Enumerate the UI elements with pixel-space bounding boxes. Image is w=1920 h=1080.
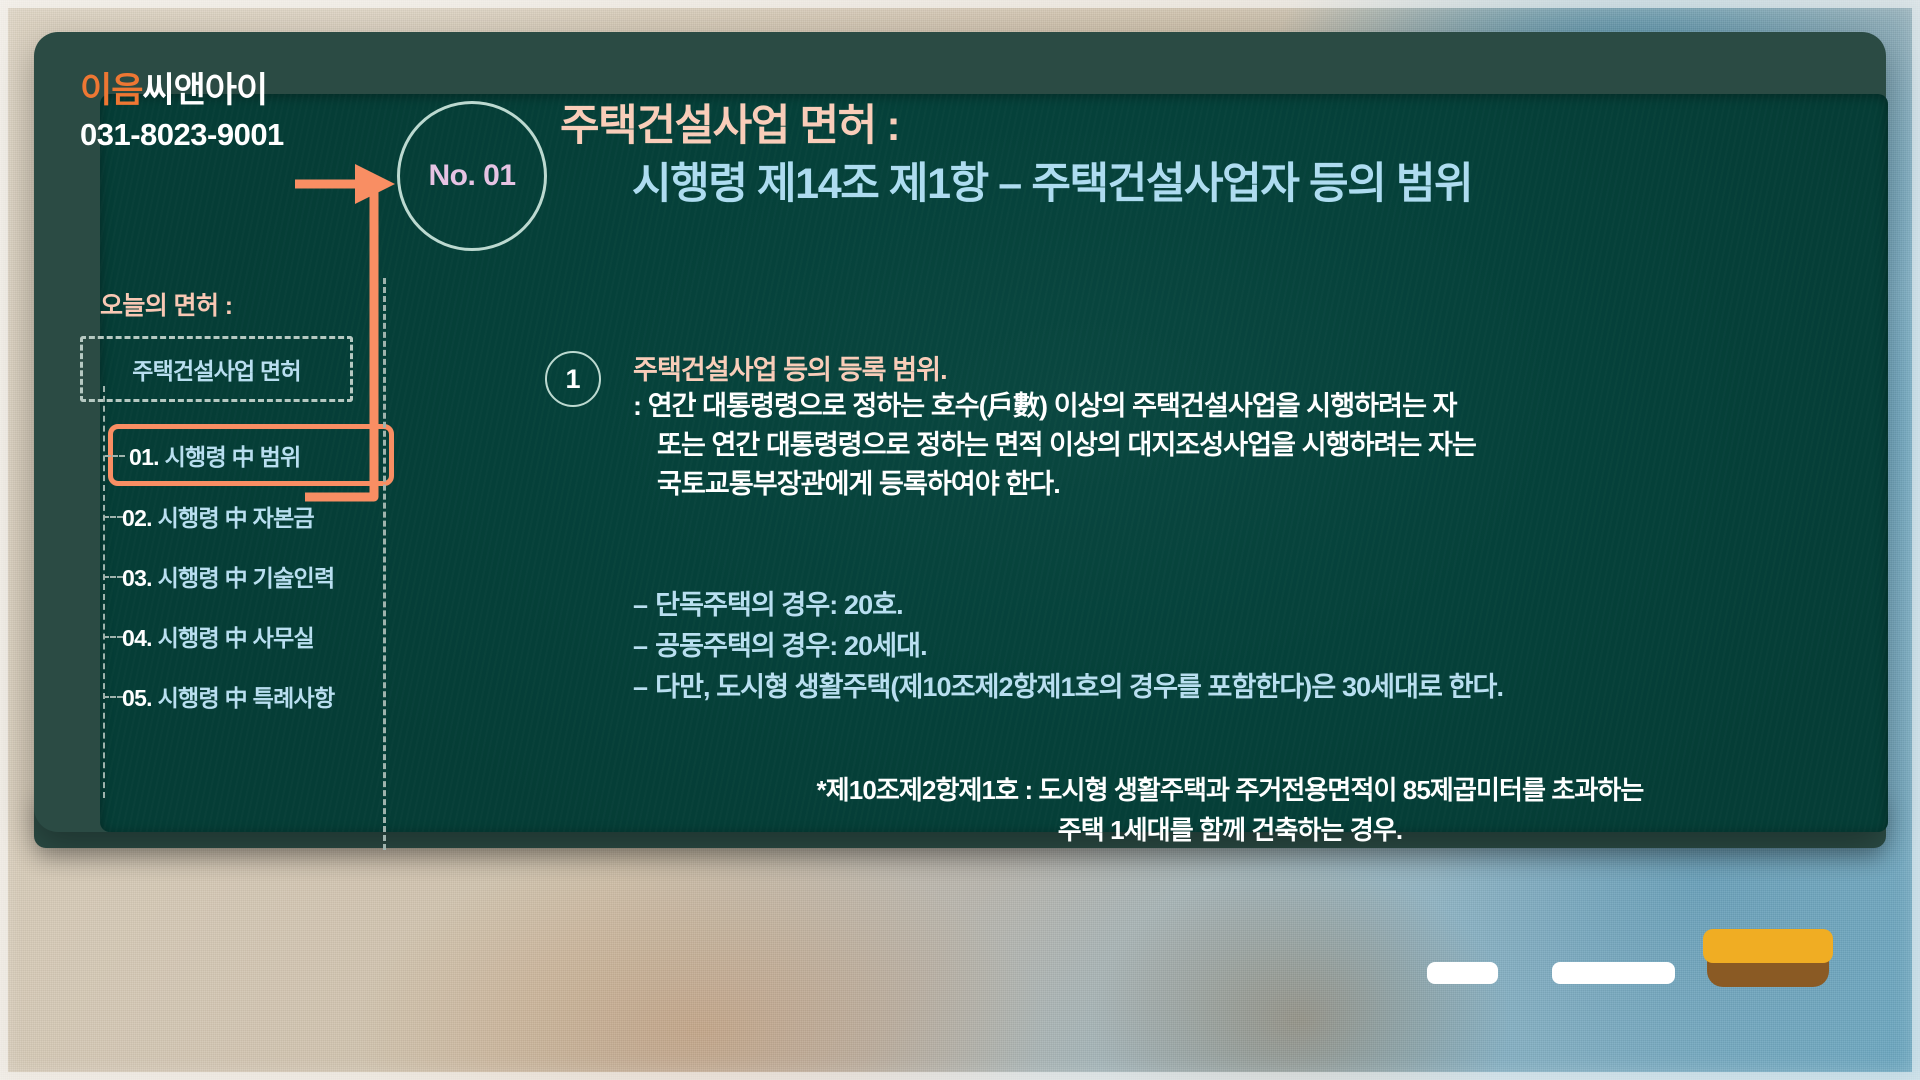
bullet-dash-icon: – — [633, 590, 647, 620]
eraser-top — [1703, 929, 1833, 963]
bullet-item-1: –단독주택의 경우: 20호. — [633, 585, 1873, 626]
section-paragraph-line-3: 국토교통부장관에게 등록하여야 한다. — [633, 465, 1863, 504]
sidebar-rail — [103, 386, 105, 798]
slide-number-label: No. 01 — [428, 159, 515, 193]
board-eraser-icon — [1703, 929, 1833, 981]
sidebar-item-05-label: 05. 시행령 中 특례사항 — [122, 679, 334, 713]
section-paragraph-line-2: 또는 연간 대통령령으로 정하는 면적 이상의 대지조성사업을 시행하려는 자는 — [633, 426, 1863, 465]
tick-icon — [103, 636, 123, 638]
section-heading: 주택건설사업 등의 등록 범위. — [633, 348, 1863, 387]
brand-phone: 031-8023-9001 — [80, 117, 284, 153]
sidebar-item-01-label: 01. 시행령 中 범위 — [129, 438, 301, 472]
sidebar-item-04[interactable]: 04. 시행령 中 사무실 — [106, 606, 380, 666]
brand-name-accent: 이음 — [80, 71, 142, 110]
tick-icon — [103, 576, 123, 578]
sidebar-item-05[interactable]: 05. 시행령 中 특례사항 — [106, 666, 380, 726]
sidebar-license-chip: 주택건설사업 면허 — [80, 336, 353, 402]
chalk-stick-icon — [1552, 962, 1675, 984]
tick-icon — [103, 516, 123, 518]
page-title-line2: 시행령 제14조 제1항 – 주택건설사업자 등의 범위 — [632, 158, 1860, 212]
sidebar-title: 오늘의 면허 : — [100, 286, 380, 322]
vertical-divider — [383, 278, 386, 850]
sidebar-item-04-label: 04. 시행령 中 사무실 — [122, 619, 314, 653]
footnote: *제10조제2항제1호 : 도시형 생활주택과 주거전용면적이 85제곱미터를 … — [600, 770, 1860, 851]
footnote-line-1: *제10조제2항제1호 : 도시형 생활주택과 주거전용면적이 85제곱미터를 … — [600, 770, 1860, 810]
sidebar-item-02[interactable]: 02. 시행령 中 자본금 — [106, 486, 380, 546]
sidebar-nav-list: 01. 시행령 中 범위 02. 시행령 中 자본금 03. 시행령 中 기술인… — [80, 424, 380, 726]
sidebar-item-03[interactable]: 03. 시행령 中 기술인력 — [106, 546, 380, 606]
footnote-line-2: 주택 1세대를 함께 건축하는 경우. — [600, 810, 1860, 850]
section-body: 주택건설사업 등의 등록 범위. : 연간 대통령령으로 정하는 호수(戶數) … — [633, 348, 1863, 504]
bullet-item-3: –다만, 도시형 생활주택(제10조제2항제1호의 경우를 포함한다)은 30세… — [633, 667, 1873, 708]
bullet-item-2: –공동주택의 경우: 20세대. — [633, 626, 1873, 667]
tick-icon — [105, 455, 125, 457]
section-paragraph-line-1: : 연간 대통령령으로 정하는 호수(戶數) 이상의 주택건설사업을 시행하려는… — [633, 387, 1863, 426]
bullet-list: –단독주택의 경우: 20호. –공동주택의 경우: 20세대. –다만, 도시… — [633, 585, 1873, 708]
brand-name-rest: 씨앤아이 — [142, 71, 267, 110]
section-number-badge: 1 — [545, 351, 601, 407]
page-title-line1: 주택건설사업 면허 : — [560, 100, 1860, 154]
chalk-stick-icon — [1427, 962, 1498, 984]
sidebar: 오늘의 면허 : 주택건설사업 면허 01. 시행령 中 범위 02. 시행령 … — [80, 286, 380, 726]
bullet-dash-icon: – — [633, 631, 647, 661]
sidebar-item-01[interactable]: 01. 시행령 中 범위 — [108, 424, 394, 486]
sidebar-license-chip-label: 주택건설사업 면허 — [132, 358, 300, 384]
sidebar-item-03-label: 03. 시행령 中 기술인력 — [122, 559, 334, 593]
page-title: 주택건설사업 면허 : 시행령 제14조 제1항 – 주택건설사업자 등의 범위 — [560, 100, 1860, 212]
brand-block: 이음씨앤아이 031-8023-9001 — [80, 72, 284, 153]
section-number-label: 1 — [565, 364, 580, 395]
tick-icon — [103, 696, 123, 698]
slide-number-badge: No. 01 — [397, 101, 547, 251]
brand-name: 이음씨앤아이 — [80, 72, 284, 111]
sidebar-item-02-label: 02. 시행령 中 자본금 — [122, 499, 314, 533]
bullet-dash-icon: – — [633, 672, 647, 702]
